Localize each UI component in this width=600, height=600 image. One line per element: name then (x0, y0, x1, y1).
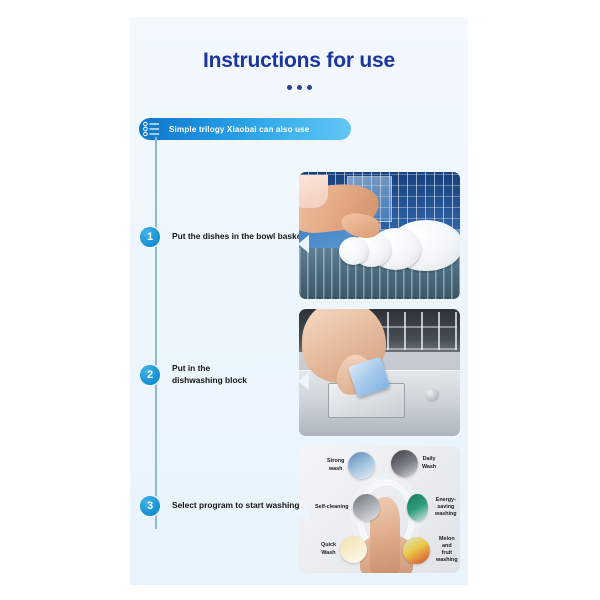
screenshot-root: Instructions for use Simple trilogy Xiao… (0, 0, 600, 600)
daily-wash-icon (391, 450, 418, 477)
step-image-3: Strong wash Daily Wash Self-cleaning Ene… (299, 446, 460, 573)
program-label: Energy-saving washing (432, 497, 460, 518)
step-label-2: Put in the dishwashing block (172, 363, 247, 386)
step-label-1: Put the dishes in the bowl basket (172, 231, 304, 243)
program-label: Daily Wash (422, 456, 436, 470)
page-title: Instructions for use (130, 49, 468, 73)
program-label: Quick Wash (321, 542, 336, 556)
program-option-strong-wash[interactable]: Strong wash (327, 452, 375, 479)
panel-pointer-2 (298, 372, 309, 390)
quick-wash-icon (340, 536, 367, 563)
program-label: Melon and fruit washing (434, 536, 460, 565)
subtitle-banner-text: Simple trilogy Xiaobai can also use (169, 125, 309, 134)
title-dots-decoration (130, 85, 468, 90)
program-label: Self-cleaning (315, 504, 349, 511)
title-dot (307, 85, 312, 90)
step-number-badge-2: 2 (140, 365, 160, 385)
self-cleaning-icon (353, 494, 380, 521)
step-item-2: 2 Put in the dishwashing block (140, 363, 247, 386)
step-label-3: Select program to start washing (172, 500, 300, 512)
program-option-energy-saving[interactable]: Energy-saving washing (407, 494, 460, 521)
step-item-1: 1 Put the dishes in the bowl basket (140, 227, 304, 247)
program-option-daily-wash[interactable]: Daily Wash (391, 450, 436, 477)
panel-pointer-3 (298, 505, 309, 523)
program-option-fruit-wash[interactable]: Melon and fruit washing (403, 536, 460, 565)
program-option-self-cleaning[interactable]: Self-cleaning (315, 494, 380, 521)
step-image-2 (299, 309, 460, 436)
step-number-badge-3: 3 (140, 496, 160, 516)
list-icon (139, 118, 165, 140)
fruit-wash-icon (403, 537, 430, 564)
step-item-3: 3 Select program to start washing (140, 496, 300, 516)
timeline-line (155, 137, 157, 529)
title-dot (297, 85, 302, 90)
title-dot (287, 85, 292, 90)
program-label: Strong wash (327, 458, 344, 472)
program-option-quick-wash[interactable]: Quick Wash (321, 536, 367, 563)
strong-wash-icon (348, 452, 375, 479)
subtitle-banner: Simple trilogy Xiaobai can also use (139, 118, 351, 140)
panel-pointer-1 (298, 235, 309, 253)
step-image-1 (299, 172, 460, 299)
instructions-card: Instructions for use Simple trilogy Xiao… (130, 17, 468, 585)
step-number-badge-1: 1 (140, 227, 160, 247)
energy-saving-icon (407, 494, 428, 521)
